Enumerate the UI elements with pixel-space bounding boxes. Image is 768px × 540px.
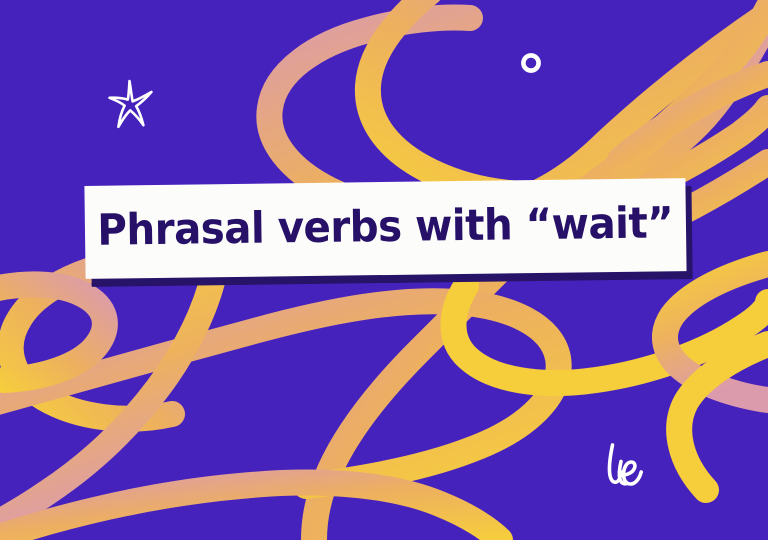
title-banner: Phrasal verbs with “wait” bbox=[84, 178, 686, 281]
title-banner-card: Phrasal verbs with “wait” bbox=[84, 178, 686, 279]
page-title: Phrasal verbs with “wait” bbox=[97, 202, 673, 253]
promo-card: Phrasal verbs with “wait” bbox=[0, 0, 768, 540]
